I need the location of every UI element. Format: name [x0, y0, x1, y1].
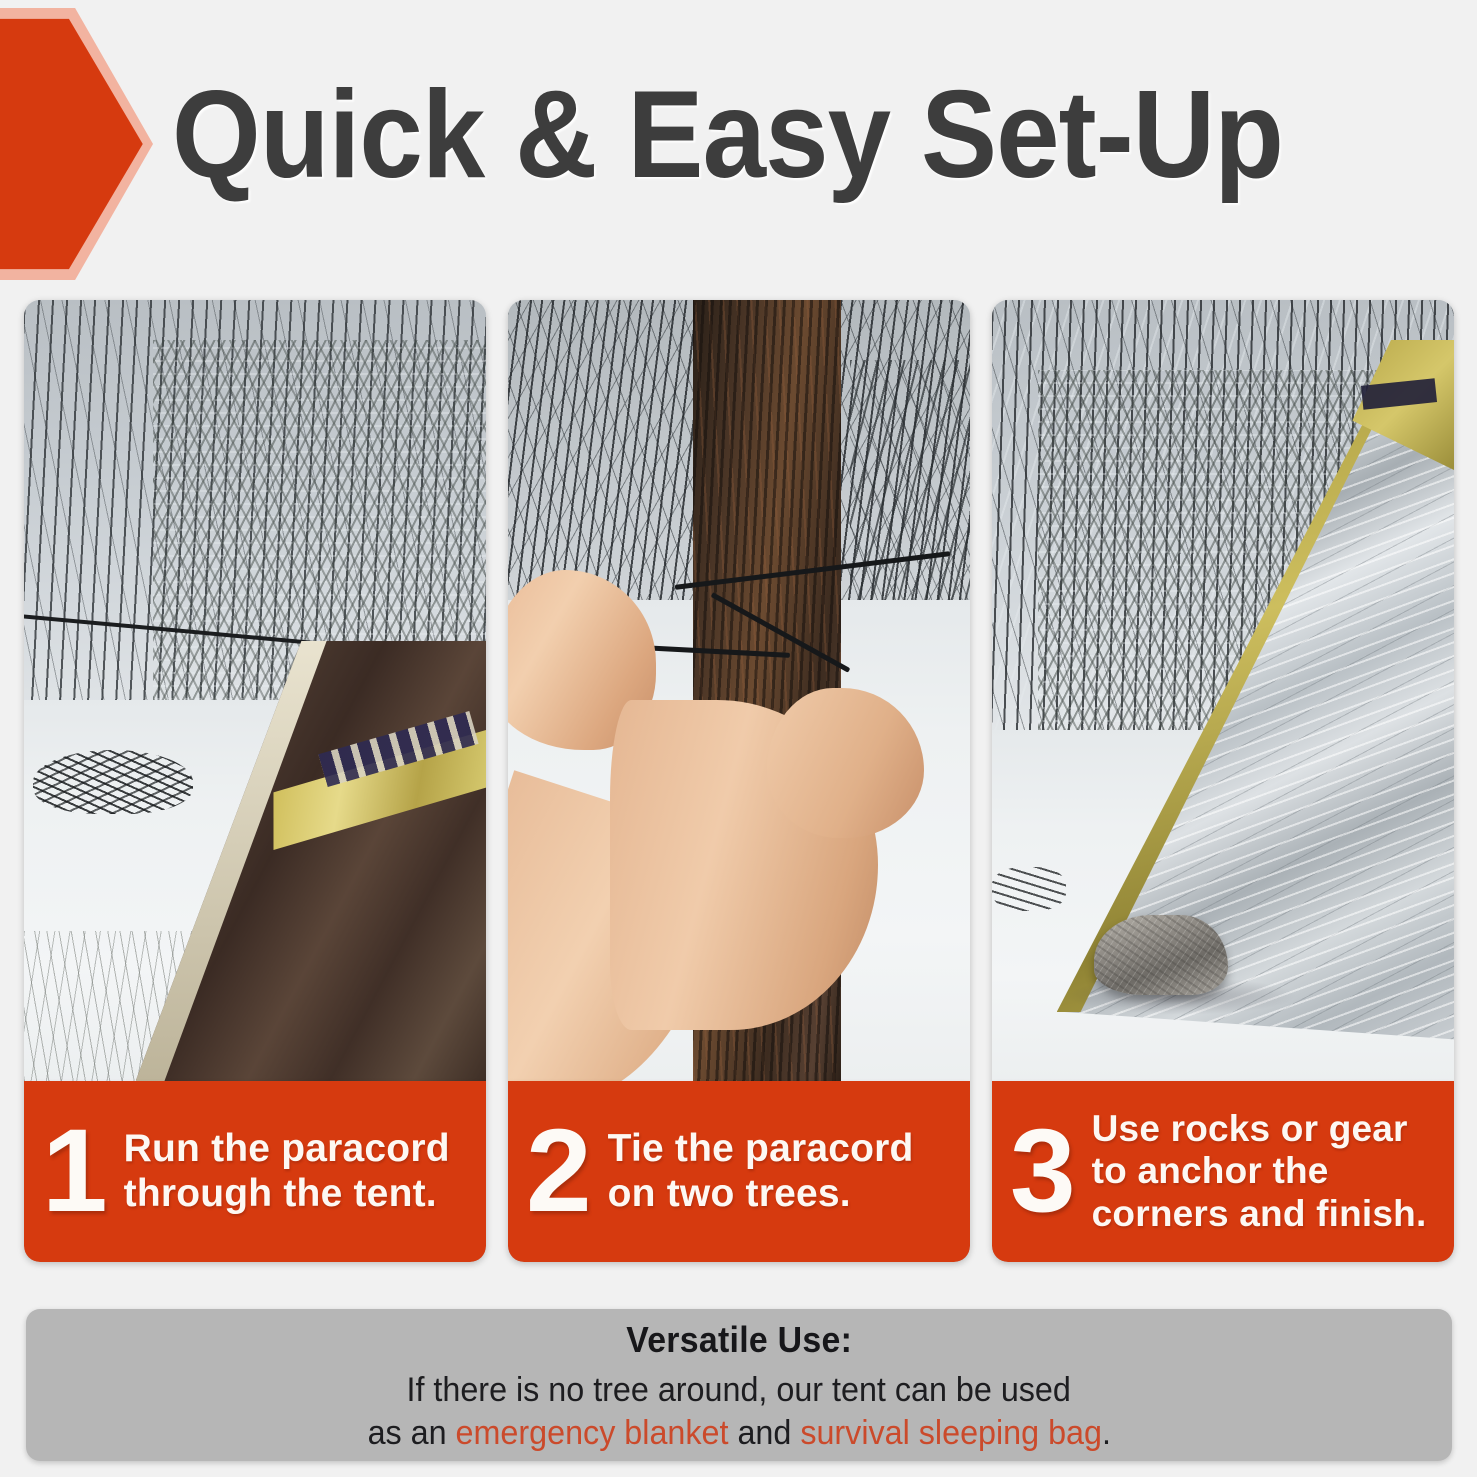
- step-number-1: 1: [42, 1117, 108, 1226]
- snow-covered-twigs: [992, 867, 1066, 911]
- step-caption-1: 1 Run the paracord through the tent.: [24, 1081, 486, 1262]
- step-text-3: Use rocks or gear to anchor the corners …: [1092, 1108, 1440, 1235]
- versatile-highlight-emergency-blanket: emergency blanket: [455, 1414, 728, 1452]
- versatile-text-b: and: [728, 1414, 800, 1452]
- versatile-use-line-2: as an emergency blanket and survival sle…: [367, 1412, 1110, 1455]
- versatile-use-panel: Versatile Use: If there is no tree aroun…: [26, 1309, 1452, 1461]
- versatile-text-a: as an: [367, 1414, 455, 1452]
- versatile-use-line-1: If there is no tree around, our tent can…: [407, 1369, 1071, 1412]
- step-number-3: 3: [1010, 1117, 1076, 1226]
- versatile-highlight-survival-sleeping-bag: survival sleeping bag: [800, 1414, 1102, 1452]
- page-title: Quick & Easy Set-Up: [172, 64, 1283, 206]
- step-caption-3: 3 Use rocks or gear to anchor the corner…: [992, 1081, 1454, 1262]
- versatile-use-title: Versatile Use:: [626, 1319, 852, 1361]
- step-text-2: Tie the paracord on two trees.: [608, 1127, 956, 1216]
- arrow-fill: [0, 8, 153, 280]
- right-arrow-chevron-icon: [0, 8, 153, 280]
- step-caption-2: 2 Tie the paracord on two trees.: [508, 1081, 970, 1262]
- step-card-3: 3 Use rocks or gear to anchor the corner…: [992, 300, 1454, 1262]
- step-card-1: 1 Run the paracord through the tent.: [24, 300, 486, 1262]
- step-text-1: Run the paracord through the tent.: [124, 1127, 472, 1216]
- step-photo-3: [992, 300, 1454, 1081]
- versatile-text-c: .: [1102, 1414, 1111, 1452]
- anchor-rock-texture: [1094, 915, 1228, 995]
- step-photo-2: [508, 300, 970, 1081]
- header-banner: Quick & Easy Set-Up: [0, 0, 1477, 288]
- step-number-2: 2: [526, 1117, 592, 1226]
- step-photo-1: [24, 300, 486, 1081]
- snow-covered-bush: [33, 750, 193, 814]
- step-card-2: 2 Tie the paracord on two trees.: [508, 300, 970, 1262]
- steps-row: 1 Run the paracord through the tent. 2 T…: [24, 300, 1454, 1262]
